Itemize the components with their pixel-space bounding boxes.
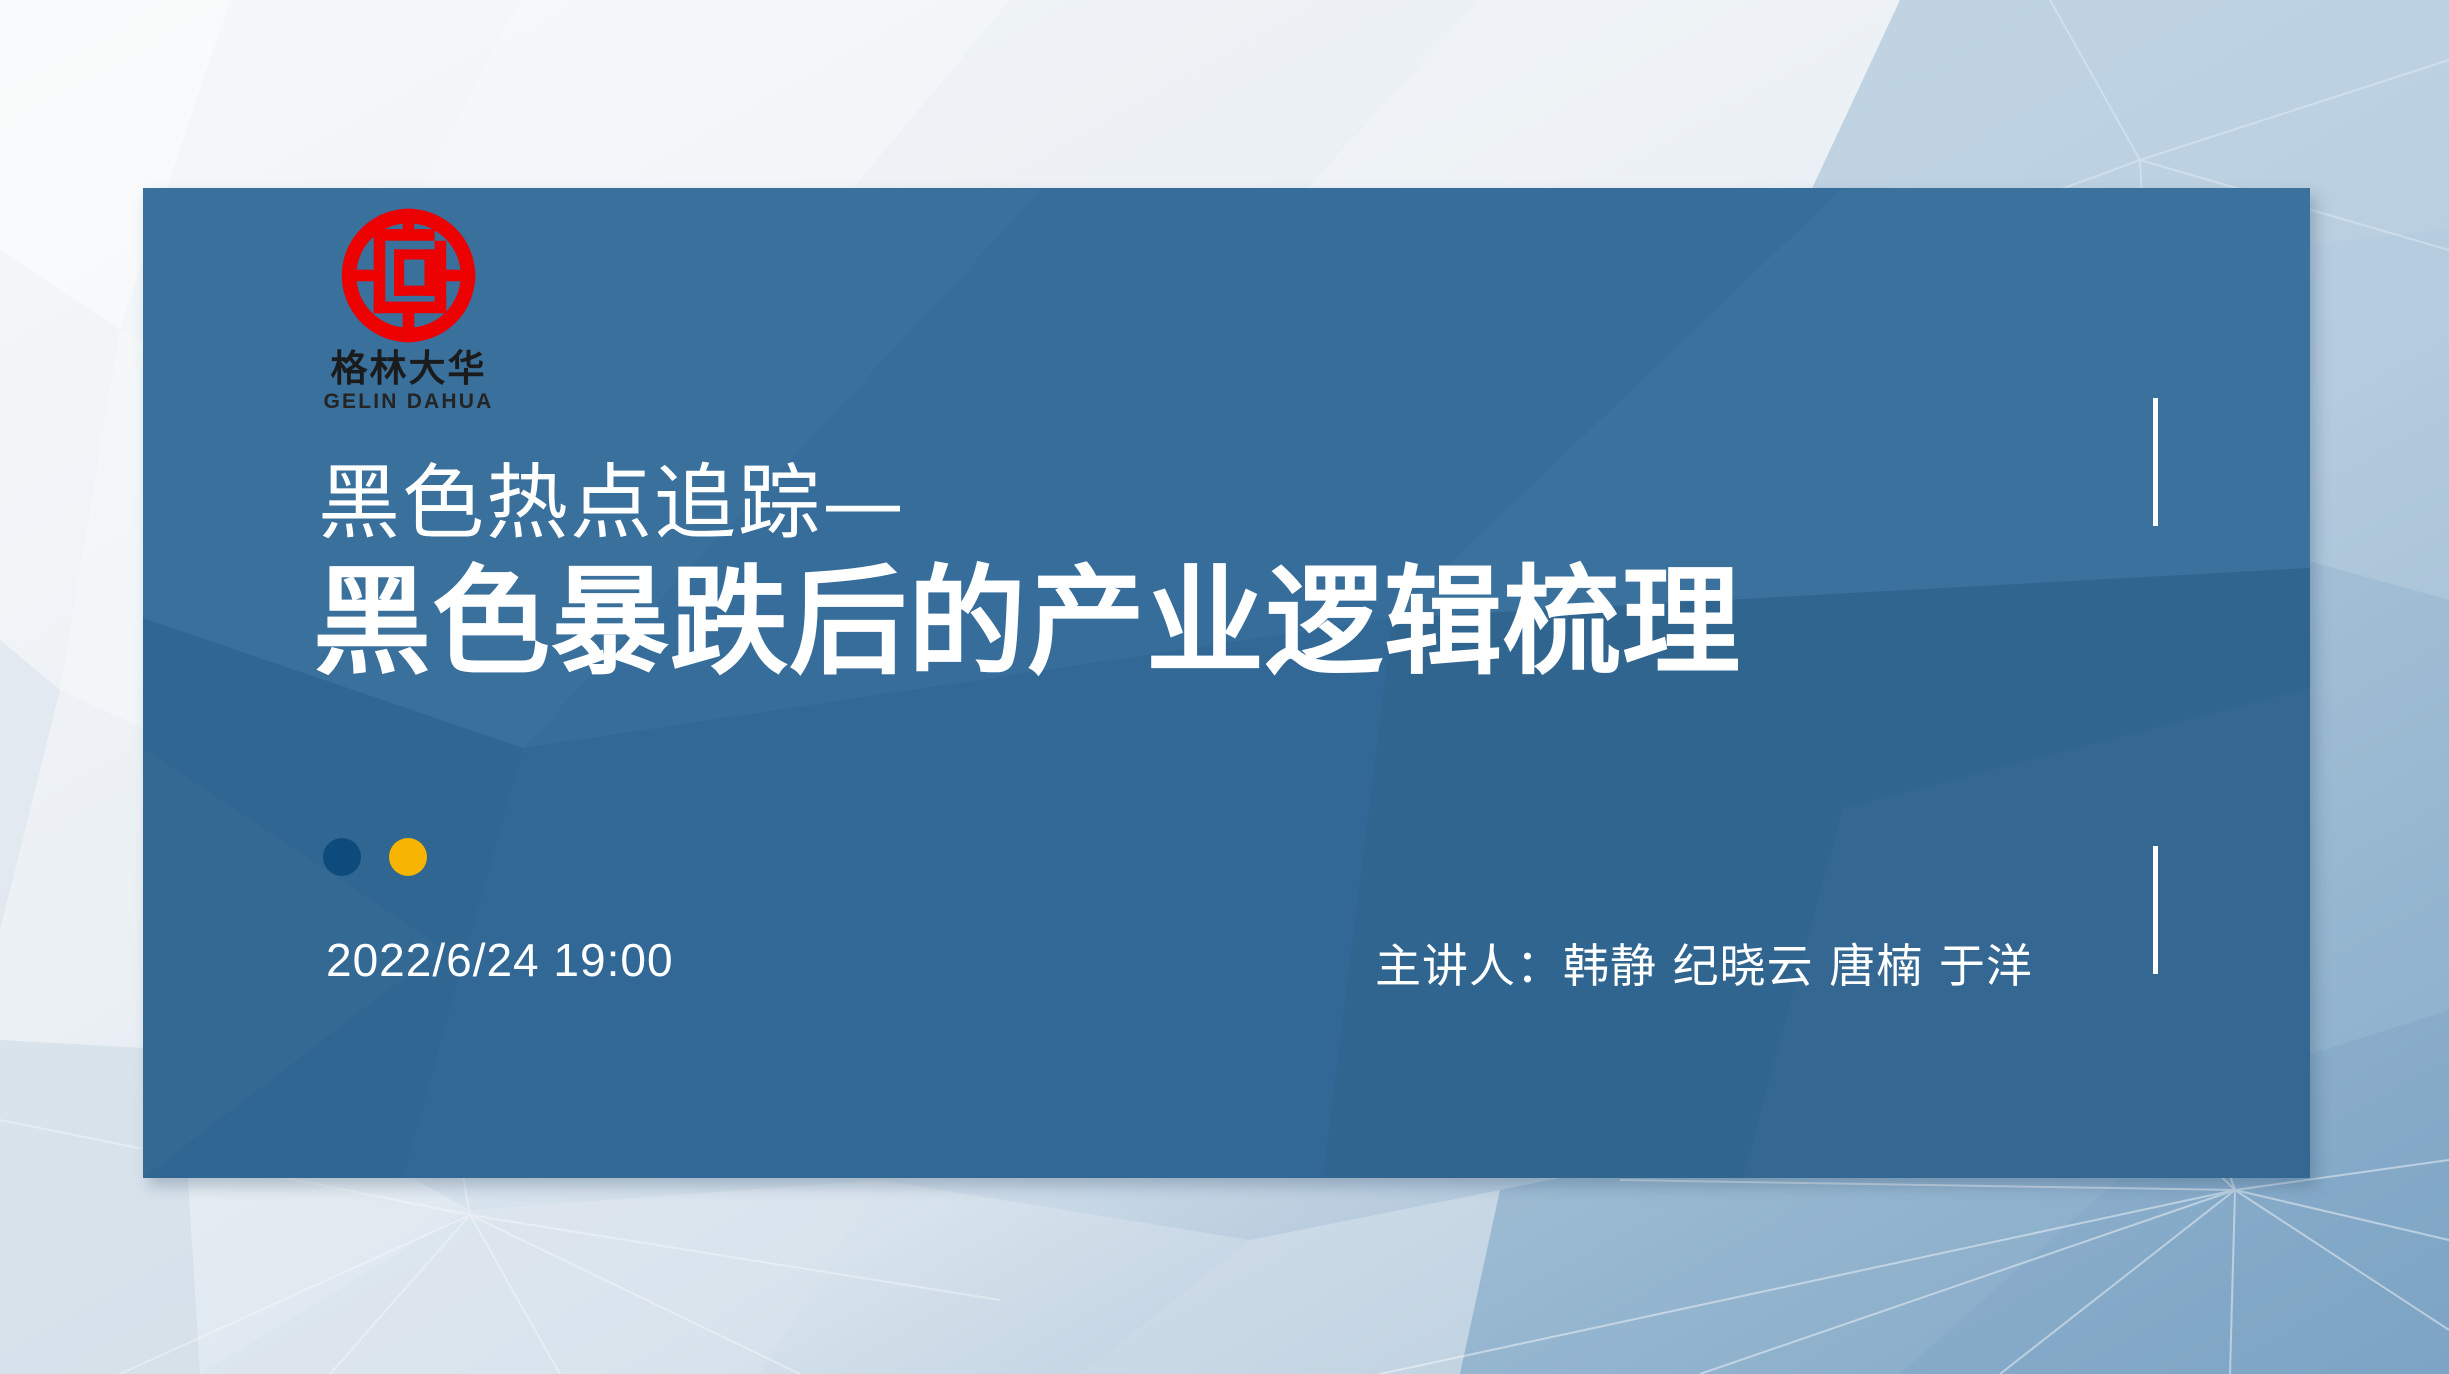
presenters-list: 主讲人：韩静 纪晓云 唐楠 于洋 [1375, 930, 2033, 996]
logo-company-name-en: GELIN DAHUA [311, 390, 506, 413]
slide-title: 黑色暴跌后的产业逻辑梳理 [313, 563, 1741, 681]
title-panel: 格林大华 GELIN DAHUA 黑色热点追踪— 黑色暴跌后的产业逻辑梳理 20… [143, 188, 2310, 1178]
amber-dot [389, 838, 427, 876]
accent-dots [323, 838, 427, 876]
vertical-rule-top [2153, 398, 2158, 526]
slide-subtitle: 黑色热点追踪— [318, 463, 906, 545]
vertical-rule-bottom [2153, 846, 2158, 974]
navy-dot [323, 838, 361, 876]
logo-company-name-cn: 格林大华 [311, 350, 506, 387]
gelin-dahua-seal-icon [336, 203, 481, 348]
event-datetime: 2022/6/24 19:00 [326, 933, 674, 987]
company-logo: 格林大华 GELIN DAHUA [311, 203, 506, 408]
presentation-slide: 格林大华 GELIN DAHUA 黑色热点追踪— 黑色暴跌后的产业逻辑梳理 20… [0, 0, 2449, 1374]
